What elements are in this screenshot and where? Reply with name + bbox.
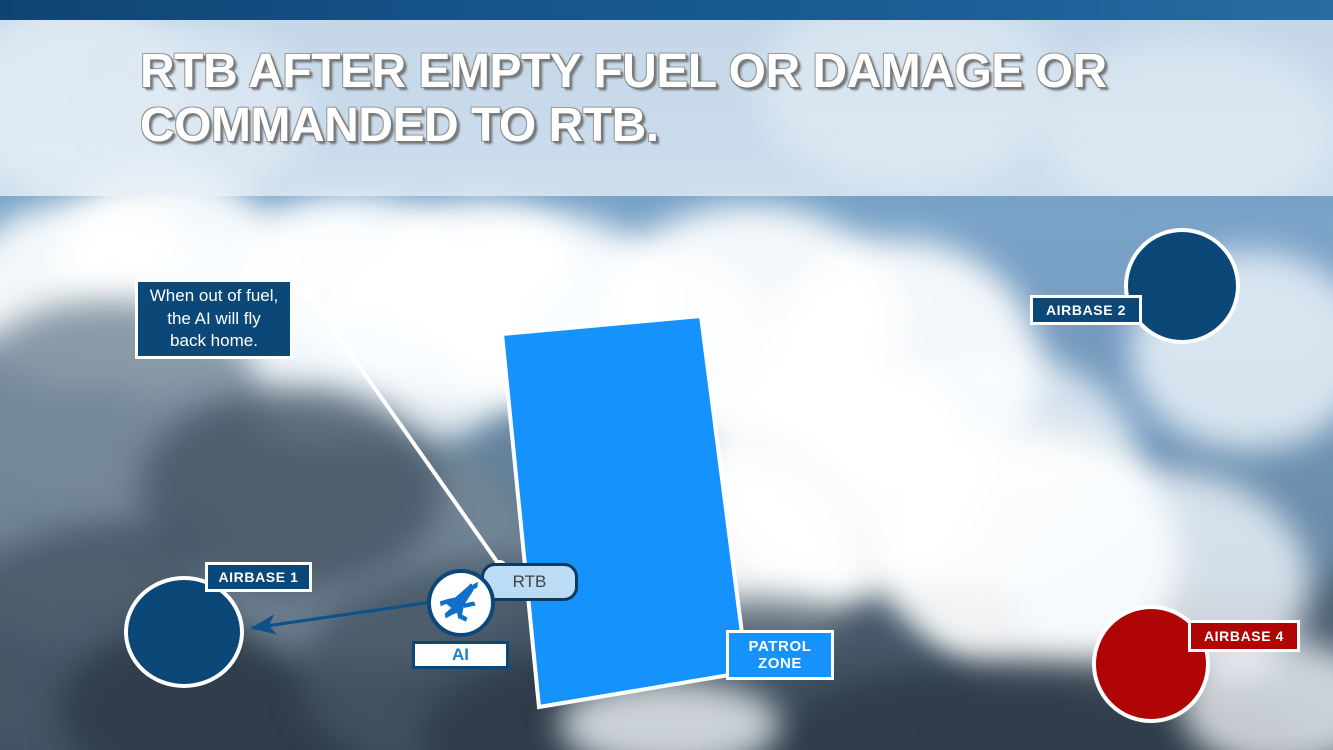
airbase-2-label[interactable]: AIRBASE 2: [1030, 295, 1142, 325]
rtb-status-bubble[interactable]: RTB: [481, 563, 578, 601]
airbase-1-label-text: AIRBASE 1: [218, 569, 298, 585]
airbase-2-marker[interactable]: [1124, 228, 1240, 344]
rtb-status-text: RTB: [513, 572, 547, 592]
airbase-1-label[interactable]: AIRBASE 1: [205, 562, 312, 592]
airbase-2-label-text: AIRBASE 2: [1046, 302, 1126, 318]
page-title-line-1: RTB AFTER EMPTY FUEL OR DAMAGE OR: [140, 45, 1260, 99]
slide-canvas: RTB AFTER EMPTY FUEL OR DAMAGE OR COMMAN…: [0, 0, 1333, 750]
airbase-1-marker[interactable]: [124, 576, 244, 688]
patrol-zone-label-line-1: PATROL: [748, 638, 811, 655]
airbase-4-label[interactable]: AIRBASE 4: [1188, 620, 1300, 652]
ai-label[interactable]: AI: [412, 641, 509, 669]
page-title: RTB AFTER EMPTY FUEL OR DAMAGE OR COMMAN…: [140, 45, 1260, 153]
jet-aircraft-icon[interactable]: [427, 569, 495, 637]
airbase-4-label-text: AIRBASE 4: [1204, 628, 1284, 644]
page-title-line-2: COMMANDED TO RTB.: [140, 99, 1260, 153]
jet-aircraft-glyph: [435, 577, 487, 629]
ai-label-text: AI: [452, 645, 469, 665]
fuel-note-text: When out of fuel, the AI will fly back h…: [148, 285, 280, 354]
patrol-zone-label[interactable]: PATROL ZONE: [726, 630, 834, 680]
fuel-note-callout: When out of fuel, the AI will fly back h…: [135, 279, 293, 359]
top-accent-strip: [0, 0, 1333, 20]
patrol-zone-label-line-2: ZONE: [758, 655, 802, 672]
